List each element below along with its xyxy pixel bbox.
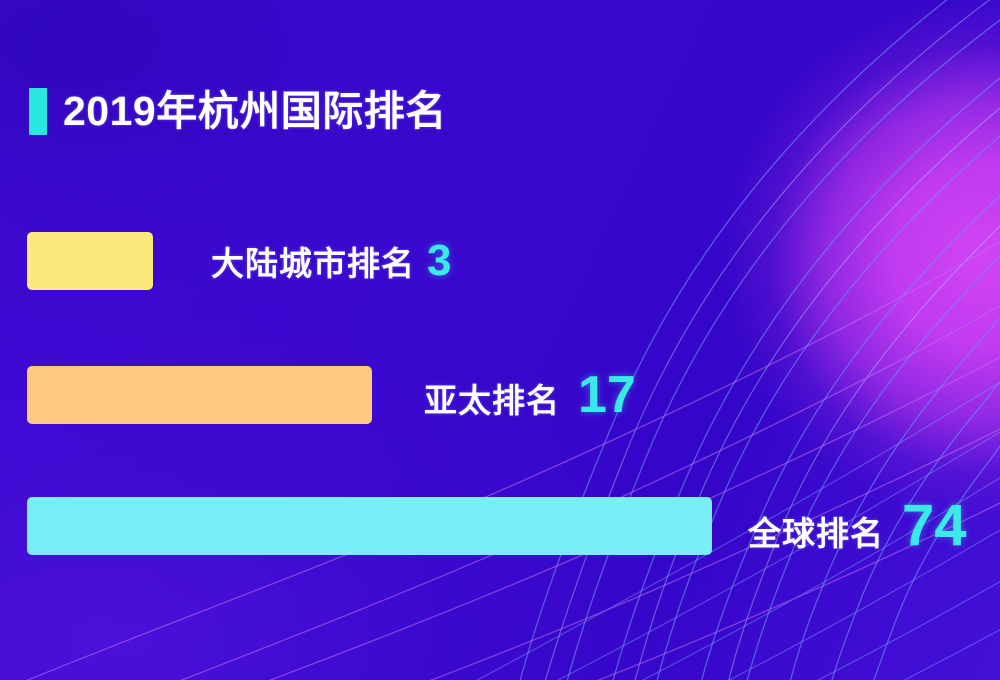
rank-caption-mainland: 大陆城市排名 3 xyxy=(211,237,451,285)
title-label: 2019年杭州国际排名 xyxy=(63,91,447,132)
rank-row-asiapacific: 亚太排名 17 xyxy=(27,366,1000,424)
rank-bar-asiapacific xyxy=(27,366,372,424)
rank-caption-asiapacific: 亚太排名 17 xyxy=(424,369,636,422)
rank-value-asiapacific: 17 xyxy=(578,369,636,421)
page-title: 2019年杭州国际排名 xyxy=(29,88,447,135)
rank-label-mainland: 大陆城市排名 xyxy=(211,237,415,285)
rank-label-asiapacific: 亚太排名 xyxy=(424,374,560,422)
rank-bar-mainland xyxy=(27,232,153,290)
rank-caption-global: 全球排名 74 xyxy=(748,497,967,555)
infographic-canvas: 2019年杭州国际排名 大陆城市排名 3 亚太排名 17 全球排名 74 xyxy=(0,0,1000,680)
rank-row-global: 全球排名 74 xyxy=(27,497,1000,555)
rank-row-mainland: 大陆城市排名 3 xyxy=(27,232,1000,290)
rank-bar-global xyxy=(27,497,712,555)
rank-label-global: 全球排名 xyxy=(748,507,884,555)
title-accent-bar xyxy=(29,88,47,135)
rank-value-global: 74 xyxy=(902,497,967,555)
rank-value-mainland: 3 xyxy=(427,239,451,283)
